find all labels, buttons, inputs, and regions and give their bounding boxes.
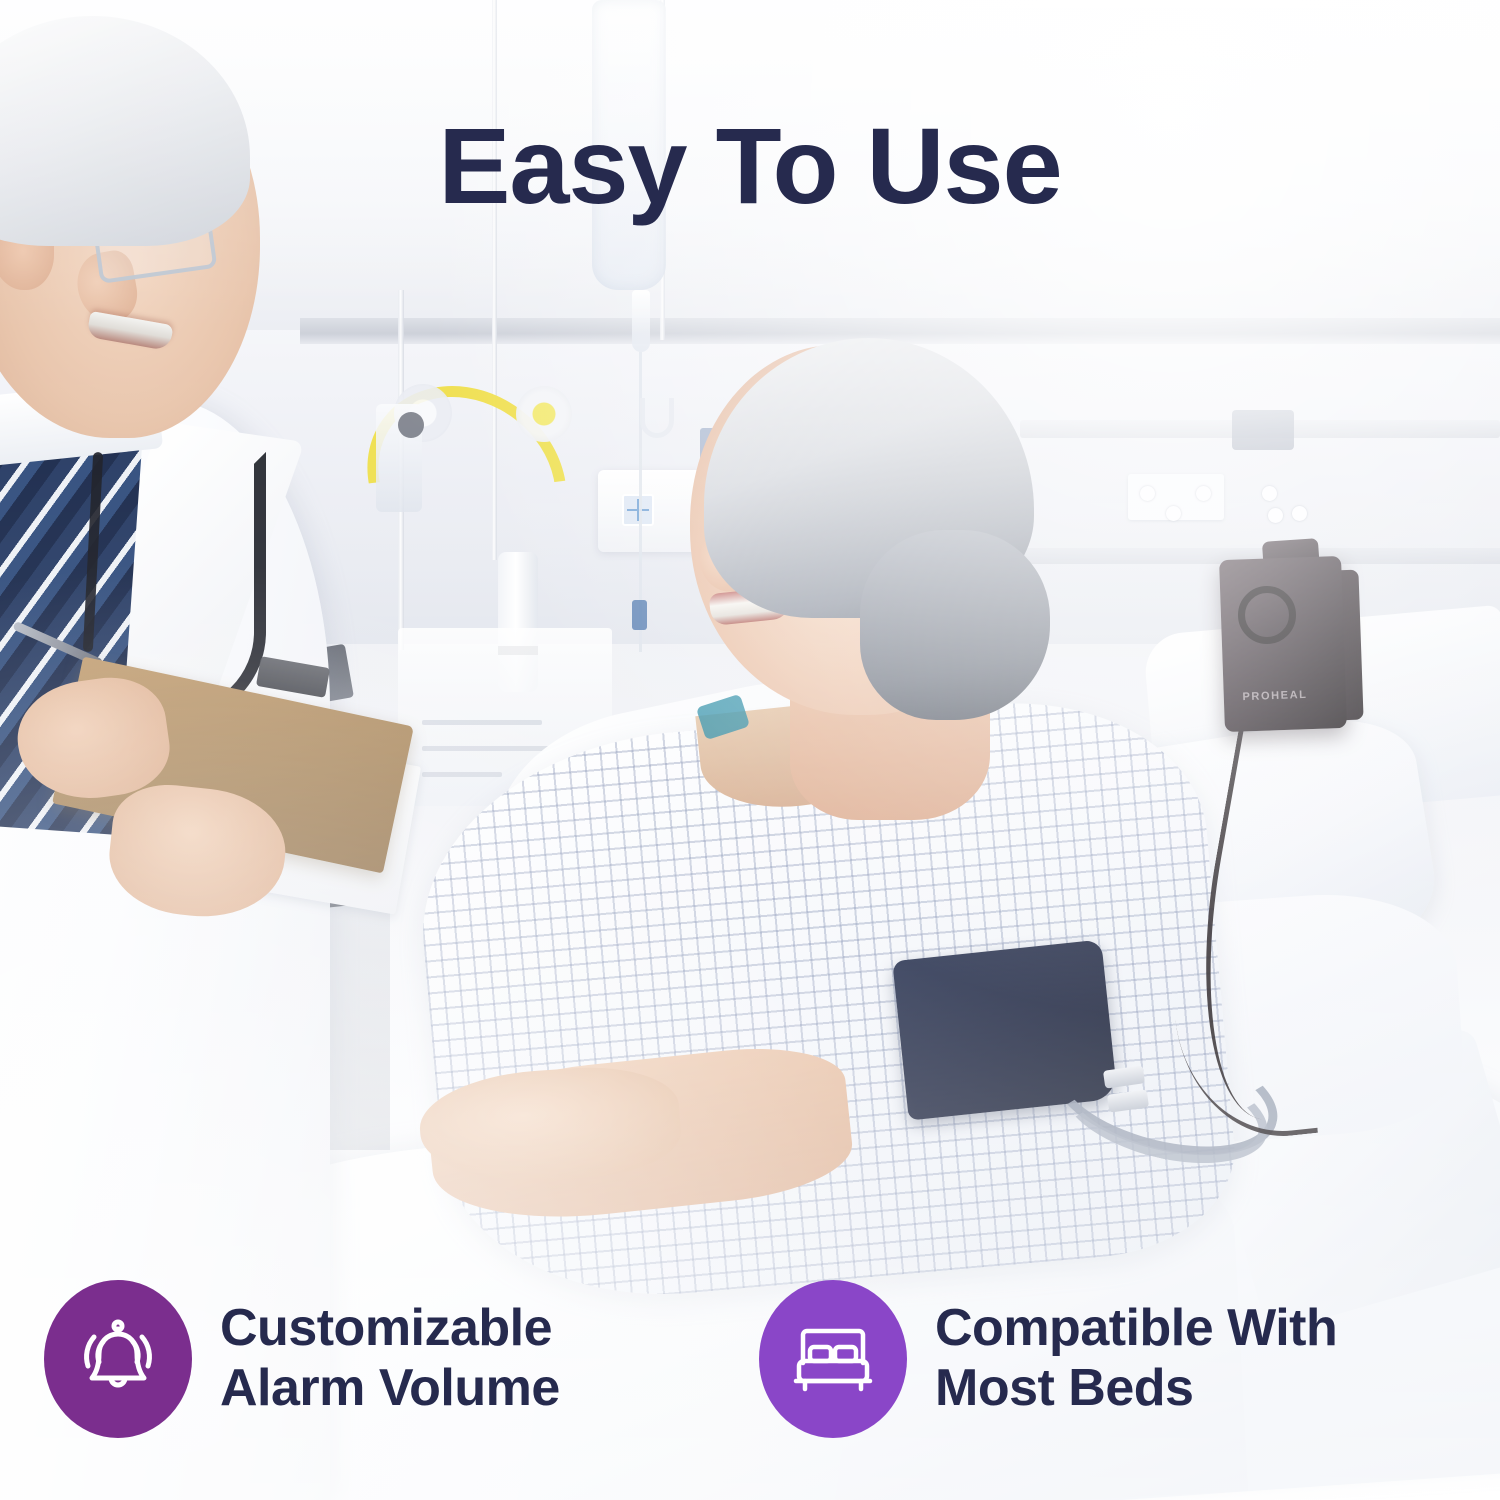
page-title: Easy To Use bbox=[0, 112, 1500, 220]
socket-dot bbox=[1262, 486, 1277, 501]
bed-alarm-device bbox=[1219, 556, 1347, 732]
oxygen-wall-port bbox=[516, 386, 572, 442]
wall-mount-box bbox=[1232, 410, 1294, 450]
product-lifestyle-image: PROHEAL Easy To Use bbox=[0, 0, 1500, 1500]
socket-dot bbox=[1140, 486, 1155, 501]
feature-badge-circle bbox=[759, 1280, 907, 1438]
ringing-bell-icon bbox=[70, 1311, 166, 1407]
feature-item-compatible-with-most-beds: Compatible With Most Beds bbox=[741, 1280, 1456, 1438]
feature-label: Compatible With Most Beds bbox=[935, 1299, 1337, 1419]
feature-item-customizable-alarm-volume: Customizable Alarm Volume bbox=[44, 1280, 741, 1438]
iv-hook bbox=[640, 398, 674, 438]
iv-drip-chamber bbox=[632, 290, 650, 352]
socket-dot bbox=[1166, 506, 1181, 521]
feature-label: Customizable Alarm Volume bbox=[220, 1299, 560, 1419]
patient-hair-back bbox=[860, 530, 1050, 720]
feature-badge-circle bbox=[44, 1280, 192, 1438]
alarm-speaker-icon bbox=[1238, 586, 1296, 644]
feature-list: Customizable Alarm Volume bbox=[0, 1280, 1500, 1438]
socket-dot bbox=[1292, 506, 1307, 521]
iv-line-clip bbox=[632, 600, 647, 630]
bed-icon bbox=[785, 1311, 881, 1407]
socket-dot bbox=[1196, 486, 1211, 501]
socket-dot bbox=[1268, 508, 1283, 523]
panel-indicator bbox=[622, 494, 654, 526]
regulator-knob bbox=[398, 412, 424, 438]
